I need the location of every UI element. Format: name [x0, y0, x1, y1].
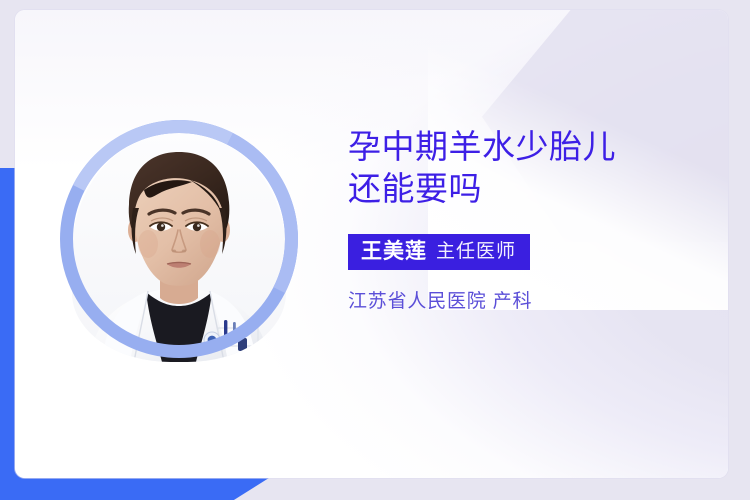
- thumbnail-canvas: 孕中期羊水少胎儿 还能要吗 王美莲主任医师 江苏省人民医院 产科: [0, 0, 750, 500]
- doctor-name: 王美莲: [361, 240, 427, 263]
- info-column: 孕中期羊水少胎儿 还能要吗 王美莲主任医师 江苏省人民医院 产科: [348, 126, 698, 315]
- video-title: 孕中期羊水少胎儿 还能要吗: [348, 126, 698, 210]
- doctor-affiliation: 江苏省人民医院 产科: [348, 289, 698, 315]
- avatar: [48, 108, 310, 370]
- avatar-ring-highlight: [29, 89, 329, 389]
- accent-bottom-blue-bar: [0, 476, 272, 500]
- doctor-rank: 主任医师: [436, 241, 516, 262]
- doctor-credential-badge: 王美莲主任医师: [348, 234, 530, 270]
